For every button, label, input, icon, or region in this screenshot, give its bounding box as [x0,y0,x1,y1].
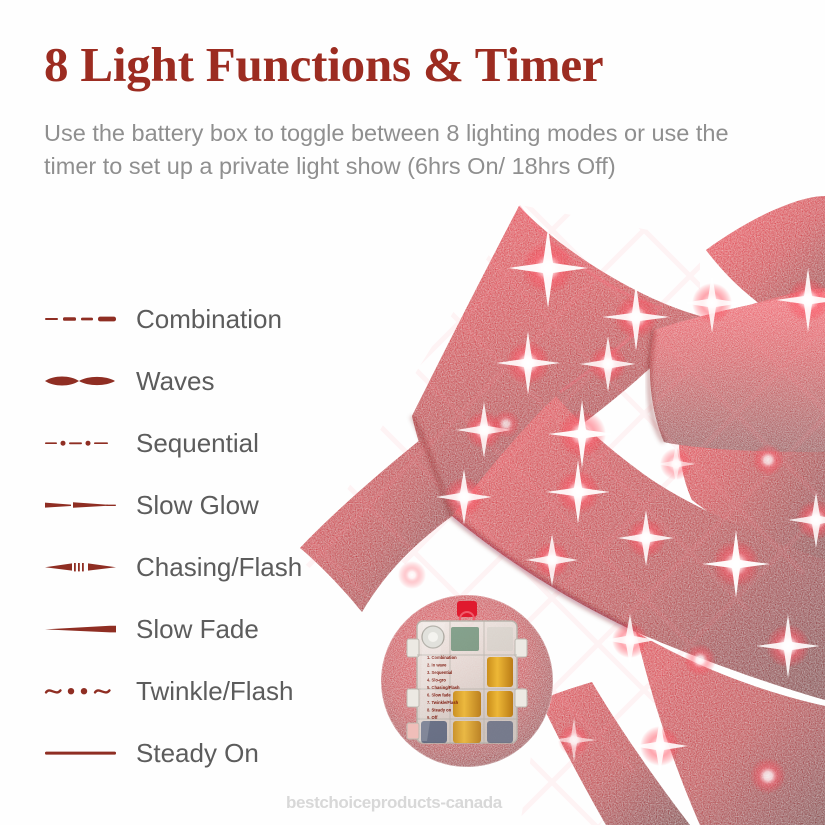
legend-item-steady-on: Steady On [44,722,374,784]
light-functions-legend: Combination Waves Sequential [44,288,374,784]
dashed-line-icon [44,306,118,332]
legend-label: Twinkle/Flash [136,678,294,704]
legend-label: Slow Glow [136,492,259,518]
solid-line-icon [44,740,118,766]
legend-item-twinkle-flash: Twinkle/Flash [44,660,374,722]
tilde-dots-line-icon [44,678,118,704]
legend-item-slow-fade: Slow Fade [44,598,374,660]
legend-item-sequential: Sequential [44,412,374,474]
legend-label: Sequential [136,430,259,456]
tapered-wedge-line-icon [44,616,118,642]
product-infographic: 1. Combination 2. In wave 3. Sequential … [0,0,825,825]
legend-item-slow-glow: Slow Glow [44,474,374,536]
legend-item-combination: Combination [44,288,374,350]
legend-label: Steady On [136,740,259,766]
double-wedge-line-icon [44,492,118,518]
legend-label: Chasing/Flash [136,554,302,580]
legend-label: Waves [136,368,215,394]
legend-item-chasing-flash: Chasing/Flash [44,536,374,598]
page-subtitle: Use the battery box to toggle between 8 … [44,117,734,183]
legend-item-waves: Waves [44,350,374,412]
wave-lens-line-icon [44,368,118,394]
dash-dot-line-icon [44,430,118,456]
tapered-ticks-line-icon [44,554,118,580]
legend-label: Combination [136,306,282,332]
page-title: 8 Light Functions & Timer [44,36,603,93]
legend-label: Slow Fade [136,616,259,642]
watermark: bestchoiceproducts-canada [286,793,502,813]
